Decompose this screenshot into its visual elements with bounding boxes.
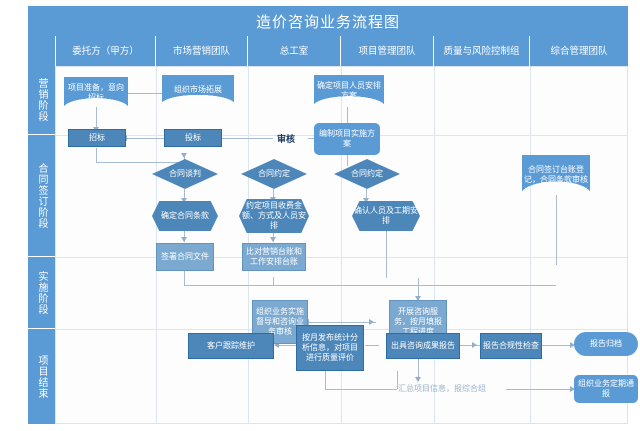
node-bidding[interactable]: 招标 xyxy=(68,129,126,147)
node-contract-agreement-marketing[interactable]: 合同约定 xyxy=(241,159,307,189)
swimlane-grid: 项目准备，意向招标 组织市场拓展 确定项目人员安排方案 招标 投标 编制项目实施… xyxy=(55,66,628,424)
stage-label-marketing: 营销阶段 xyxy=(34,78,49,122)
node-project-preparation[interactable]: 项目准备，意向招标 xyxy=(64,77,128,109)
node-report-compliance-check[interactable]: 报告合规性检查 xyxy=(480,333,542,359)
connector-plan-down xyxy=(347,154,348,166)
label-audit: 审核 xyxy=(264,130,308,146)
arrowhead-down xyxy=(270,237,276,242)
stage-label-contract: 合同签订阶段 xyxy=(34,163,49,229)
connector-staffing-down xyxy=(386,230,387,278)
node-compare-ledgers[interactable]: 比对营销台账和工作安排台账 xyxy=(242,243,306,271)
flowchart-canvas: 造价咨询业务流程图 委托方（甲方） 市场营销团队 总工室 项目管理团队 质量与风… xyxy=(28,6,628,424)
connector-contract-bus xyxy=(184,285,556,286)
arrowhead-down xyxy=(415,377,421,382)
node-contract-ledger-registration[interactable]: 合同签订台账登记，合同条款审核 xyxy=(522,155,590,195)
node-organize-market-expansion[interactable]: 组织市场拓展 xyxy=(162,75,234,105)
node-confirm-staff-and-schedule[interactable]: 确认人员及工期安排 xyxy=(352,201,420,231)
column-header-quality-risk: 质量与风险控制组 xyxy=(433,36,529,66)
stage-label-implementation: 实施阶段 xyxy=(34,271,49,315)
node-prepare-implementation-plan[interactable]: 编制项目实施方案 xyxy=(314,123,380,155)
page-title: 造价咨询业务流程图 xyxy=(28,6,628,36)
stage-divider-2 xyxy=(56,257,627,258)
label-summary-report: 汇总项目信息，报综合组 xyxy=(398,383,486,394)
stage-cell-implementation: 实施阶段 xyxy=(28,256,55,328)
column-header-marketing: 市场营销团队 xyxy=(155,36,247,66)
stage-column: 营销阶段 合同签订阶段 实施阶段 项目结束 xyxy=(28,66,55,424)
node-tendering[interactable]: 投标 xyxy=(164,129,222,147)
node-report-archiving[interactable]: 报告归档 xyxy=(574,332,638,356)
node-periodic-business-briefing[interactable]: 组织业务定期通报 xyxy=(574,375,638,403)
column-header-project-management: 项目管理团队 xyxy=(340,36,433,66)
stage-cell-marketing: 营销阶段 xyxy=(28,66,55,134)
connector-bid-down xyxy=(96,148,97,162)
column-header-general-management: 综合管理团队 xyxy=(529,36,628,66)
arrowhead-right xyxy=(472,342,477,348)
node-contract-negotiation[interactable]: 合同谈判 xyxy=(152,159,218,189)
column-header-client: 委托方（甲方） xyxy=(55,36,155,66)
flowchart-page: 造价咨询业务流程图 委托方（甲方） 市场营销团队 总工室 项目管理团队 质量与风… xyxy=(0,0,640,431)
swimlane-header-row: 委托方（甲方） 市场营销团队 总工室 项目管理团队 质量与风险控制组 综合管理团… xyxy=(28,36,628,66)
column-header-chief-engineer: 总工室 xyxy=(247,36,340,66)
arrowhead-right xyxy=(369,319,374,325)
connector-bid-to-negotiation xyxy=(96,162,184,163)
connector-client-down xyxy=(96,107,97,129)
connector-ledger-down xyxy=(556,195,557,265)
arrowhead-down xyxy=(181,153,187,158)
node-agree-fee-and-staffing[interactable]: 约定项目收费金额、方式及人员安排 xyxy=(239,199,309,233)
node-determine-staffing-plan[interactable]: 确定项目人员安排方案 xyxy=(314,75,384,107)
stage-cell-contract: 合同签订阶段 xyxy=(28,134,55,256)
connector-check-to-stats xyxy=(365,345,379,346)
connector-summary-right xyxy=(506,389,574,390)
connector-service-supervision xyxy=(308,322,376,323)
connector-compare-down xyxy=(273,277,274,285)
node-client-followup-maintenance[interactable]: 客户跟踪维护 xyxy=(188,333,274,359)
header-corner-cell xyxy=(28,36,55,66)
stage-cell-closeout: 项目结束 xyxy=(28,328,55,424)
stage-label-closeout: 项目结束 xyxy=(34,355,49,399)
arrowhead-down xyxy=(181,237,187,242)
node-monthly-statistics-and-quality[interactable]: 按月发布统计分析信息，对项目进行质量评价 xyxy=(296,325,364,371)
connector-sign-down xyxy=(184,271,185,285)
node-determine-contract-terms[interactable]: 确定合同条款 xyxy=(152,201,218,231)
connector-summary-left xyxy=(325,389,397,390)
node-issue-consulting-report[interactable]: 出具咨询成果报告 xyxy=(386,333,460,359)
lane-divider-5 xyxy=(530,67,531,423)
lane-divider-4 xyxy=(434,67,435,423)
node-sign-contract-documents[interactable]: 签署合同文件 xyxy=(156,243,214,271)
node-contract-agreement-chief[interactable]: 合同约定 xyxy=(334,159,400,189)
